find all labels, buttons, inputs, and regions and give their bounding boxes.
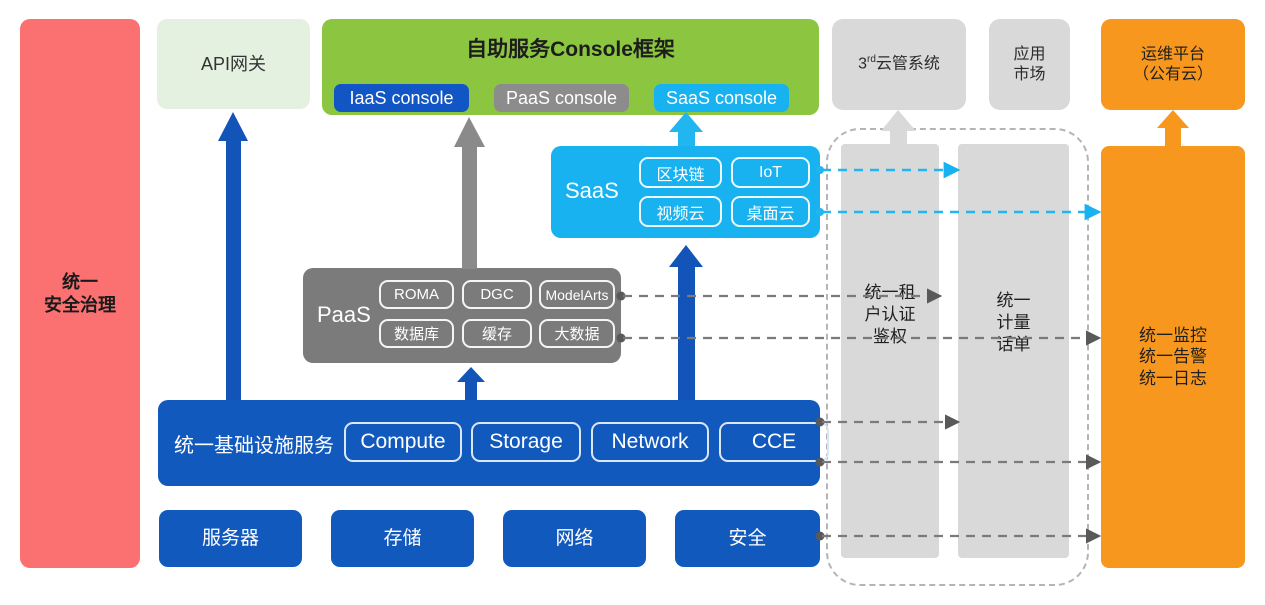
api-gateway-box: API网关 (157, 19, 310, 109)
security-governance-panel: 统一 安全治理 (20, 19, 140, 568)
paas-item-roma: ROMA (379, 280, 454, 309)
metering-line1: 统一 (958, 290, 1069, 312)
iaas-item-compute: Compute (344, 422, 462, 462)
arrow-infra-to-api-gateway (218, 112, 248, 400)
tenant-auth-label: 统一租 户认证 鉴权 (841, 282, 939, 348)
iaas-console-chip: IaaS console (334, 84, 469, 112)
saas-console-label: SaaS console (666, 88, 777, 109)
metering-line2: 计量 (958, 312, 1069, 334)
saas-layer-panel: SaaS 区块链 IoT 视频云 桌面云 (551, 146, 820, 238)
third-party-cloud-mgmt-label: 3rd云管系统 (858, 54, 940, 74)
iaas-layer-panel: 统一基础设施服务 Compute Storage Network CCE (158, 400, 820, 486)
metering-label: 统一 计量 话单 (958, 290, 1069, 356)
security-governance-line2: 安全治理 (44, 294, 116, 317)
ops-platform-side-panel: 统一监控 统一告警 统一日志 (1101, 146, 1245, 568)
arrow-paas-to-console (454, 117, 485, 269)
hardware-box-security: 安全 (675, 510, 820, 567)
ops-platform-top-box: 运维平台 （公有云） (1101, 19, 1245, 110)
paas-item-database: 数据库 (379, 319, 454, 348)
saas-item-desktop-cloud: 桌面云 (731, 196, 810, 227)
architecture-diagram: 统一 安全治理 API网关 自助服务Console框架 IaaS console… (0, 0, 1265, 605)
iaas-console-label: IaaS console (349, 88, 453, 109)
security-governance-line1: 统一 (44, 271, 116, 294)
console-framework-panel: 自助服务Console框架 IaaS console PaaS console … (322, 19, 819, 115)
console-framework-title: 自助服务Console框架 (322, 33, 819, 63)
arrow-ops-side-to-top (1157, 110, 1189, 146)
ops-platform-top-line1: 运维平台 (1133, 45, 1213, 65)
third-party-cloud-mgmt-box: 3rd云管系统 (832, 19, 966, 110)
tenant-auth-column (841, 144, 939, 558)
hardware-box-server: 服务器 (159, 510, 302, 567)
paas-console-label: PaaS console (506, 88, 617, 109)
hardware-box-network: 网络 (503, 510, 646, 567)
paas-layer-panel: PaaS ROMA DGC ModelArts 数据库 缓存 大数据 (303, 268, 621, 363)
arrow-saas-to-console (669, 112, 703, 146)
paas-layer-label: PaaS (317, 302, 371, 328)
ops-monitor-label: 统一监控 (1139, 325, 1207, 346)
saas-item-video-cloud: 视频云 (639, 196, 722, 227)
saas-console-chip: SaaS console (654, 84, 789, 112)
app-market-line2: 市场 (1013, 65, 1045, 85)
paas-item-cache: 缓存 (462, 319, 532, 348)
tenant-auth-line3: 鉴权 (841, 326, 939, 348)
app-market-line1: 应用 (1013, 45, 1045, 65)
saas-layer-label: SaaS (565, 178, 619, 204)
saas-item-blockchain: 区块链 (639, 157, 722, 188)
ops-log-label: 统一日志 (1139, 368, 1207, 389)
metering-line3: 话单 (958, 334, 1069, 356)
iaas-layer-label: 统一基础设施服务 (174, 429, 334, 458)
paas-item-dgc: DGC (462, 280, 532, 309)
arrow-infra-to-paas (457, 367, 485, 400)
ops-platform-top-line2: （公有云） (1133, 65, 1213, 85)
app-market-box: 应用 市场 (989, 19, 1070, 110)
iaas-item-storage: Storage (471, 422, 581, 462)
tenant-auth-line1: 统一租 (841, 282, 939, 304)
paas-console-chip: PaaS console (494, 84, 629, 112)
hardware-box-storage: 存储 (331, 510, 474, 567)
arrow-infra-to-saas (669, 245, 703, 400)
api-gateway-label: API网关 (201, 53, 266, 76)
paas-item-modelarts: ModelArts (539, 280, 615, 309)
iaas-item-cce: CCE (719, 422, 829, 462)
ops-alarm-label: 统一告警 (1139, 346, 1207, 367)
iaas-item-network: Network (591, 422, 709, 462)
saas-item-iot: IoT (731, 157, 810, 188)
paas-item-bigdata: 大数据 (539, 319, 615, 348)
tenant-auth-line2: 户认证 (841, 304, 939, 326)
